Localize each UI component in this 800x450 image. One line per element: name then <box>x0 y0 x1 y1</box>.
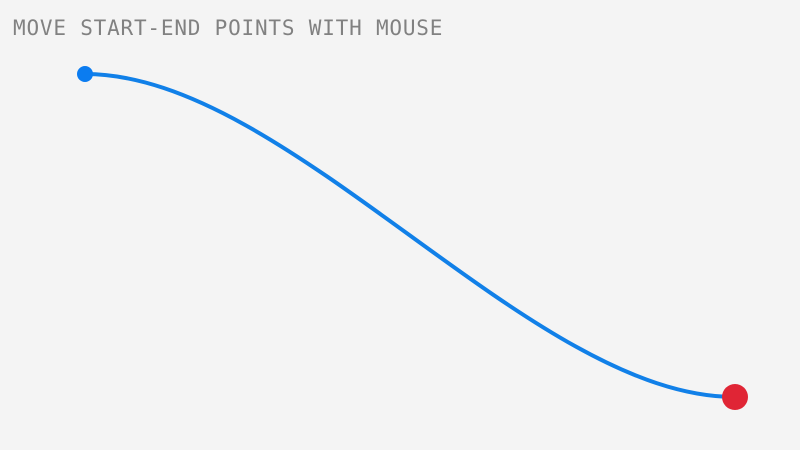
bezier-curve-canvas <box>0 0 800 450</box>
start-point-handle[interactable] <box>77 66 93 82</box>
canvas-stage[interactable]: MOVE START-END POINTS WITH MOUSE <box>0 0 800 450</box>
bezier-curve-path <box>85 74 735 397</box>
end-point-handle[interactable] <box>722 384 748 410</box>
